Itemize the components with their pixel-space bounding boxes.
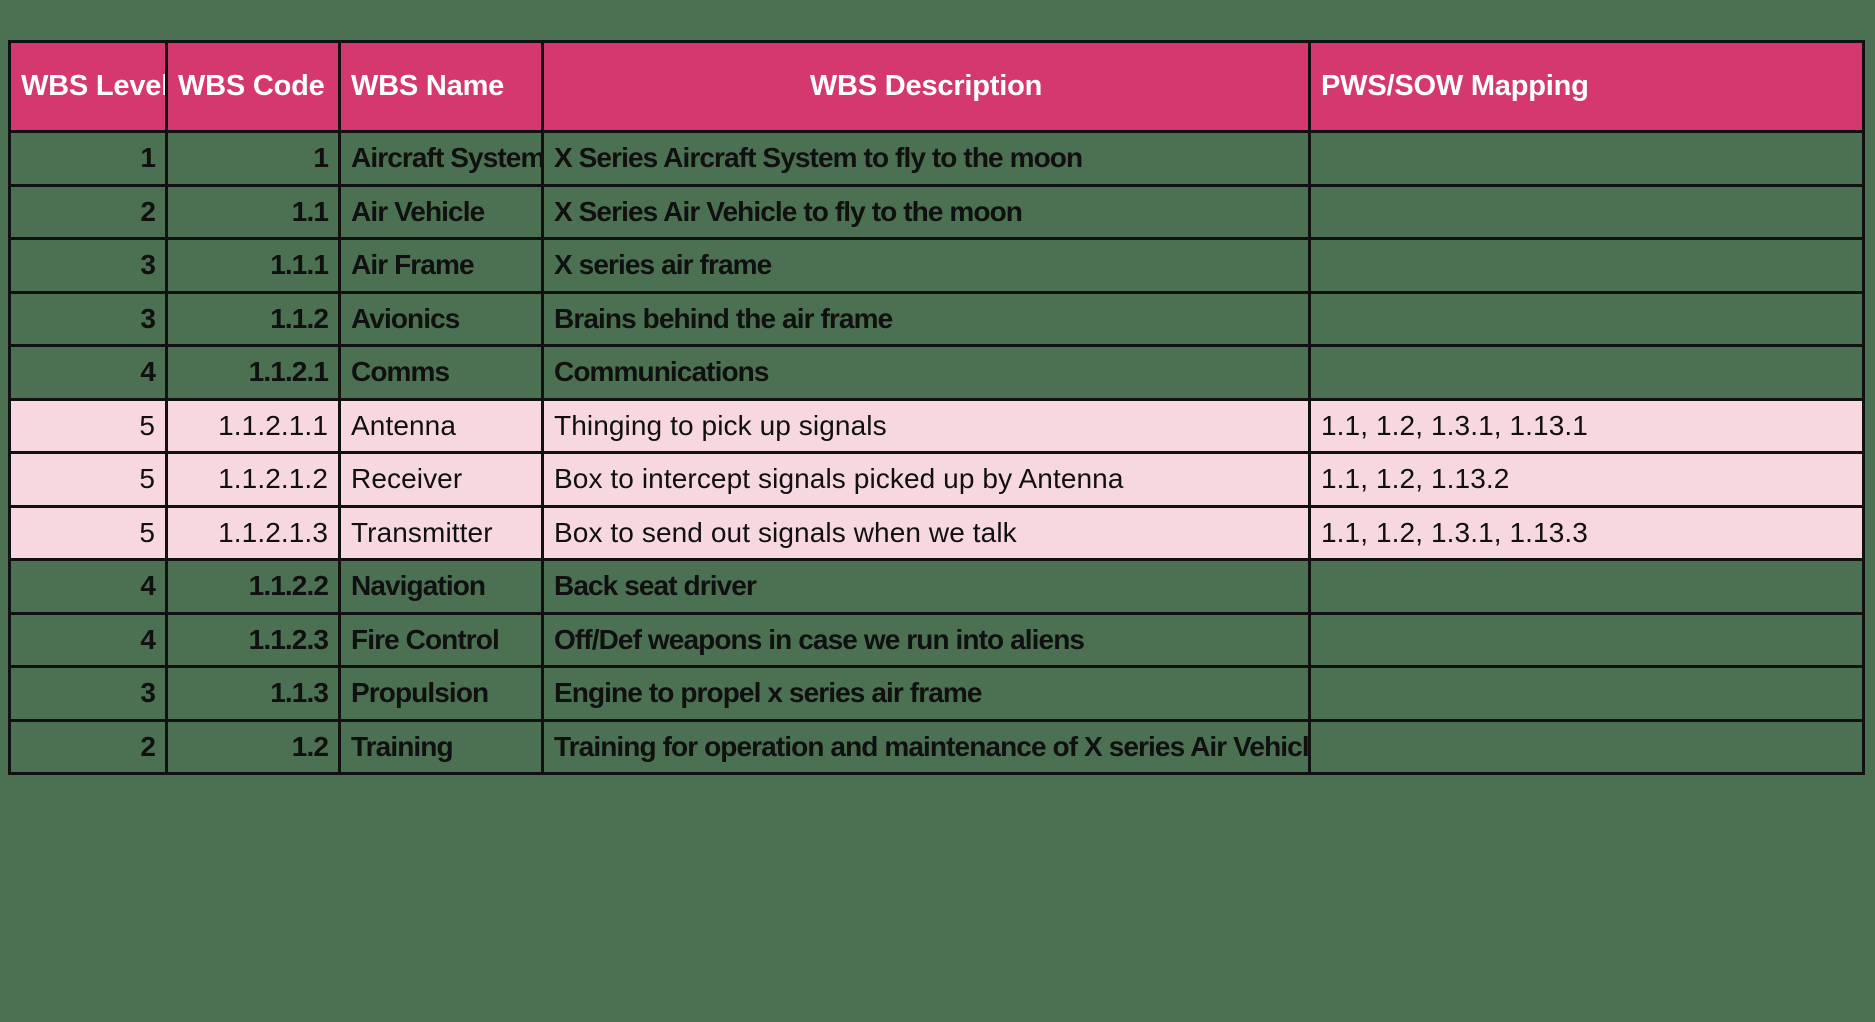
cell-wbs-description[interactable]: Off/Def weapons in case we run into alie…	[543, 613, 1310, 667]
table-row[interactable]: 51.1.2.1.2ReceiverBox to intercept signa…	[10, 453, 1864, 507]
cell-wbs-name[interactable]: Receiver	[340, 453, 543, 507]
cell-pws-sow-mapping[interactable]	[1310, 667, 1864, 721]
cell-wbs-code[interactable]: 1.2	[167, 720, 340, 774]
cell-wbs-code[interactable]: 1.1.3	[167, 667, 340, 721]
cell-wbs-level[interactable]: 3	[10, 667, 167, 721]
cell-pws-sow-mapping[interactable]	[1310, 185, 1864, 239]
cell-wbs-name[interactable]: Aircraft System	[340, 132, 543, 186]
cell-wbs-code[interactable]: 1.1.2.1.1	[167, 399, 340, 453]
cell-pws-sow-mapping[interactable]	[1310, 346, 1864, 400]
cell-wbs-description[interactable]: Engine to propel x series air frame	[543, 667, 1310, 721]
cell-wbs-level[interactable]: 5	[10, 399, 167, 453]
wbs-sheet: WBS Level WBS Code WBS Name WBS Descript…	[8, 40, 1862, 775]
cell-pws-sow-mapping[interactable]	[1310, 239, 1864, 293]
cell-wbs-level[interactable]: 2	[10, 720, 167, 774]
cell-pws-sow-mapping[interactable]	[1310, 292, 1864, 346]
cell-wbs-level[interactable]: 1	[10, 132, 167, 186]
cell-wbs-description[interactable]: X Series Air Vehicle to fly to the moon	[543, 185, 1310, 239]
cell-pws-sow-mapping[interactable]: 1.1, 1.2, 1.3.1, 1.13.3	[1310, 506, 1864, 560]
table-row[interactable]: 51.1.2.1.1AntennaThinging to pick up sig…	[10, 399, 1864, 453]
cell-wbs-description[interactable]: Communications	[543, 346, 1310, 400]
cell-wbs-name[interactable]: Air Vehicle	[340, 185, 543, 239]
cell-wbs-name[interactable]: Avionics	[340, 292, 543, 346]
cell-wbs-code[interactable]: 1.1.1	[167, 239, 340, 293]
column-header-wbs-name[interactable]: WBS Name	[340, 42, 543, 132]
table-row[interactable]: 21.1Air VehicleX Series Air Vehicle to f…	[10, 185, 1864, 239]
cell-wbs-description[interactable]: Thinging to pick up signals	[543, 399, 1310, 453]
cell-wbs-name[interactable]: Antenna	[340, 399, 543, 453]
cell-wbs-name[interactable]: Fire Control	[340, 613, 543, 667]
cell-wbs-level[interactable]: 3	[10, 239, 167, 293]
cell-wbs-name[interactable]: Propulsion	[340, 667, 543, 721]
cell-wbs-code[interactable]: 1.1.2	[167, 292, 340, 346]
table-row[interactable]: 41.1.2.3Fire ControlOff/Def weapons in c…	[10, 613, 1864, 667]
table-row[interactable]: 31.1.3PropulsionEngine to propel x serie…	[10, 667, 1864, 721]
cell-wbs-name[interactable]: Transmitter	[340, 506, 543, 560]
table-row[interactable]: 41.1.2.2NavigationBack seat driver	[10, 560, 1864, 614]
table-row[interactable]: 41.1.2.1CommsCommunications	[10, 346, 1864, 400]
header-row: WBS Level WBS Code WBS Name WBS Descript…	[10, 42, 1864, 132]
cell-pws-sow-mapping[interactable]: 1.1, 1.2, 1.13.2	[1310, 453, 1864, 507]
cell-wbs-description[interactable]: Box to send out signals when we talk	[543, 506, 1310, 560]
cell-wbs-code[interactable]: 1.1.2.2	[167, 560, 340, 614]
cell-pws-sow-mapping[interactable]: 1.1, 1.2, 1.3.1, 1.13.1	[1310, 399, 1864, 453]
cell-pws-sow-mapping[interactable]	[1310, 720, 1864, 774]
cell-wbs-code[interactable]: 1.1.2.1.3	[167, 506, 340, 560]
table-row[interactable]: 31.1.2AvionicsBrains behind the air fram…	[10, 292, 1864, 346]
cell-wbs-name[interactable]: Navigation	[340, 560, 543, 614]
column-header-wbs-description[interactable]: WBS Description	[543, 42, 1310, 132]
table-row[interactable]: 31.1.1Air FrameX series air frame	[10, 239, 1864, 293]
cell-wbs-level[interactable]: 5	[10, 506, 167, 560]
cell-wbs-code[interactable]: 1.1	[167, 185, 340, 239]
column-header-pws-sow-mapping[interactable]: PWS/SOW Mapping	[1310, 42, 1864, 132]
cell-wbs-name[interactable]: Air Frame	[340, 239, 543, 293]
cell-wbs-description[interactable]: X series air frame	[543, 239, 1310, 293]
cell-wbs-name[interactable]: Training	[340, 720, 543, 774]
table-body: 11Aircraft SystemX Series Aircraft Syste…	[10, 132, 1864, 774]
cell-pws-sow-mapping[interactable]	[1310, 132, 1864, 186]
table-row[interactable]: 51.1.2.1.3TransmitterBox to send out sig…	[10, 506, 1864, 560]
cell-wbs-description[interactable]: Brains behind the air frame	[543, 292, 1310, 346]
cell-wbs-description[interactable]: Box to intercept signals picked up by An…	[543, 453, 1310, 507]
table-row[interactable]: 21.2TrainingTraining for operation and m…	[10, 720, 1864, 774]
cell-wbs-level[interactable]: 4	[10, 560, 167, 614]
wbs-table: WBS Level WBS Code WBS Name WBS Descript…	[8, 40, 1865, 775]
cell-wbs-code[interactable]: 1	[167, 132, 340, 186]
cell-wbs-level[interactable]: 4	[10, 346, 167, 400]
cell-wbs-level[interactable]: 3	[10, 292, 167, 346]
cell-wbs-level[interactable]: 2	[10, 185, 167, 239]
cell-wbs-description[interactable]: Training for operation and maintenance o…	[543, 720, 1310, 774]
cell-pws-sow-mapping[interactable]	[1310, 613, 1864, 667]
cell-pws-sow-mapping[interactable]	[1310, 560, 1864, 614]
cell-wbs-code[interactable]: 1.1.2.3	[167, 613, 340, 667]
cell-wbs-code[interactable]: 1.1.2.1.2	[167, 453, 340, 507]
table-row[interactable]: 11Aircraft SystemX Series Aircraft Syste…	[10, 132, 1864, 186]
column-header-wbs-code[interactable]: WBS Code	[167, 42, 340, 132]
cell-wbs-level[interactable]: 5	[10, 453, 167, 507]
column-header-wbs-level[interactable]: WBS Level	[10, 42, 167, 132]
cell-wbs-name[interactable]: Comms	[340, 346, 543, 400]
cell-wbs-code[interactable]: 1.1.2.1	[167, 346, 340, 400]
cell-wbs-description[interactable]: Back seat driver	[543, 560, 1310, 614]
cell-wbs-description[interactable]: X Series Aircraft System to fly to the m…	[543, 132, 1310, 186]
table-header: WBS Level WBS Code WBS Name WBS Descript…	[10, 42, 1864, 132]
cell-wbs-level[interactable]: 4	[10, 613, 167, 667]
